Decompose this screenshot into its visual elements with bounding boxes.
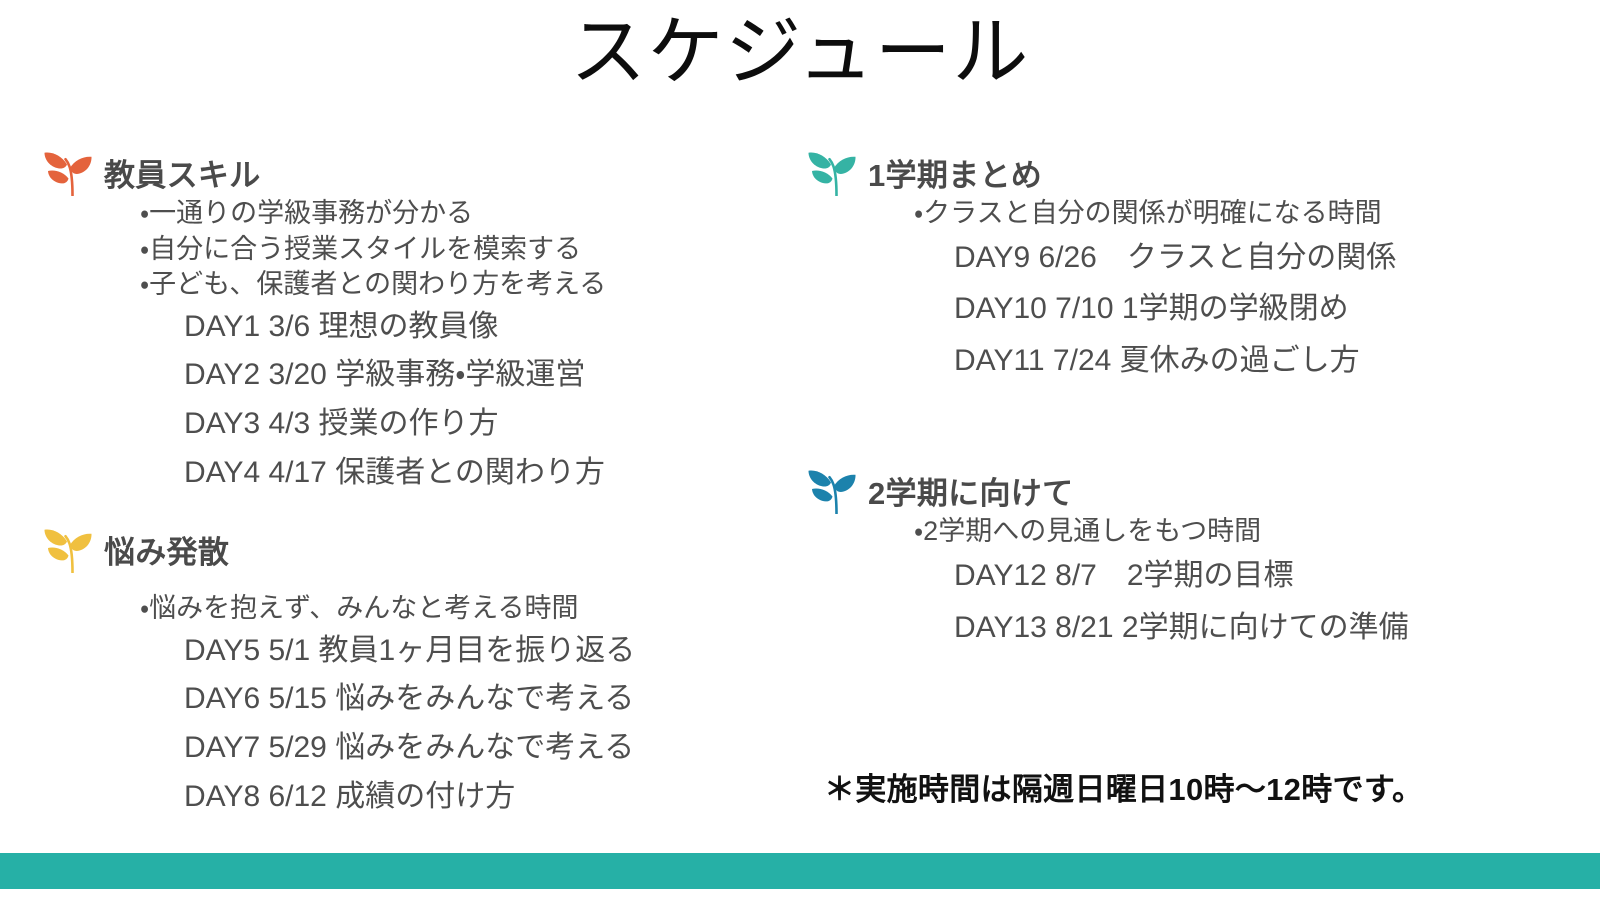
section-teacher-skills: 教員スキル ・一通りの学級事務が分かる ・自分に合う授業スタイルを模索する ・子… — [42, 148, 742, 497]
left-column: 教員スキル ・一通りの学級事務が分かる ・自分に合う授業スタイルを模索する ・子… — [42, 148, 742, 821]
sprout-icon — [42, 525, 94, 573]
section-title: 教員スキル — [104, 150, 261, 195]
day-item: DAY11 7/24 夏休みの過ごし方 — [954, 335, 1526, 387]
section-title: 悩み発散 — [104, 527, 229, 572]
section-heading: 教員スキル — [42, 148, 742, 196]
sprout-icon — [806, 466, 858, 514]
bullet-list: ・クラスと自分の関係が明確になる時間 — [914, 196, 1526, 232]
day-list: DAY12 8/7 2学期の目標 DAY13 8/21 2学期に向けての準備 — [954, 550, 1526, 653]
day-item: DAY10 7/10 1学期の学級閉め — [954, 283, 1526, 335]
day-item: DAY6 5/15 悩みをみんなで考える — [184, 675, 742, 724]
day-item: DAY13 8/21 2学期に向けての準備 — [954, 602, 1526, 654]
bullet-item: ・子ども、保護者との関わり方を考える — [140, 267, 742, 303]
bullet-list: ・一通りの学級事務が分かる ・自分に合う授業スタイルを模索する ・子ども、保護者… — [140, 196, 742, 303]
day-item: DAY8 6/12 成績の付け方 — [184, 773, 742, 822]
section-heading: 1学期まとめ — [806, 148, 1526, 196]
day-item: DAY7 5/29 悩みをみんなで考える — [184, 724, 742, 773]
page-title: スケジュール — [0, 8, 1600, 98]
day-item: DAY9 6/26 クラスと自分の関係 — [954, 232, 1526, 284]
bullet-list: ・2学期への見通しをもつ時間 — [914, 514, 1526, 550]
day-list: DAY1 3/6 理想の教員像 DAY2 3/20 学級事務・学級運営 DAY3… — [184, 303, 742, 497]
section-title: 2学期に向けて — [868, 468, 1073, 513]
sprout-icon — [806, 148, 858, 196]
right-column: 1学期まとめ ・クラスと自分の関係が明確になる時間 DAY9 6/26 クラスと… — [806, 148, 1526, 653]
footnote-text: ＊実施時間は隔週日曜日10時〜12時です。 — [824, 764, 1423, 809]
day-item: DAY4 4/17 保護者との関わり方 — [184, 449, 742, 498]
bullet-item: ・自分に合う授業スタイルを模索する — [140, 232, 742, 268]
day-item: DAY3 4/3 授業の作り方 — [184, 400, 742, 449]
day-item: DAY5 5/1 教員1ヶ月目を振り返る — [184, 627, 742, 676]
section-term1-summary: 1学期まとめ ・クラスと自分の関係が明確になる時間 DAY9 6/26 クラスと… — [806, 148, 1526, 386]
bottom-accent-bar — [0, 853, 1600, 889]
day-item: DAY1 3/6 理想の教員像 — [184, 303, 742, 352]
bullet-item: ・2学期への見通しをもつ時間 — [914, 514, 1526, 550]
sprout-icon — [42, 148, 94, 196]
bullet-item: ・悩みを抱えず、みんなと考える時間 — [140, 591, 742, 627]
day-list: DAY9 6/26 クラスと自分の関係 DAY10 7/10 1学期の学級閉め … — [954, 232, 1526, 387]
day-item: DAY12 8/7 2学期の目標 — [954, 550, 1526, 602]
bullet-list: ・悩みを抱えず、みんなと考える時間 — [140, 591, 742, 627]
slide-canvas: スケジュール 教員スキル ・一通りの学級事務が分かる ・自分に合う授業スタイルを… — [0, 0, 1600, 900]
section-title: 1学期まとめ — [868, 150, 1042, 195]
section-heading: 悩み発散 — [42, 525, 742, 573]
day-list: DAY5 5/1 教員1ヶ月目を振り返る DAY6 5/15 悩みをみんなで考え… — [184, 627, 742, 821]
day-item: DAY2 3/20 学級事務・学級運営 — [184, 351, 742, 400]
section-heading: 2学期に向けて — [806, 466, 1526, 514]
bullet-item: ・一通りの学級事務が分かる — [140, 196, 742, 232]
section-worry-release: 悩み発散 ・悩みを抱えず、みんなと考える時間 DAY5 5/1 教員1ヶ月目を振… — [42, 525, 742, 821]
section-term2-prep: 2学期に向けて ・2学期への見通しをもつ時間 DAY12 8/7 2学期の目標 … — [806, 466, 1526, 653]
bullet-item: ・クラスと自分の関係が明確になる時間 — [914, 196, 1526, 232]
